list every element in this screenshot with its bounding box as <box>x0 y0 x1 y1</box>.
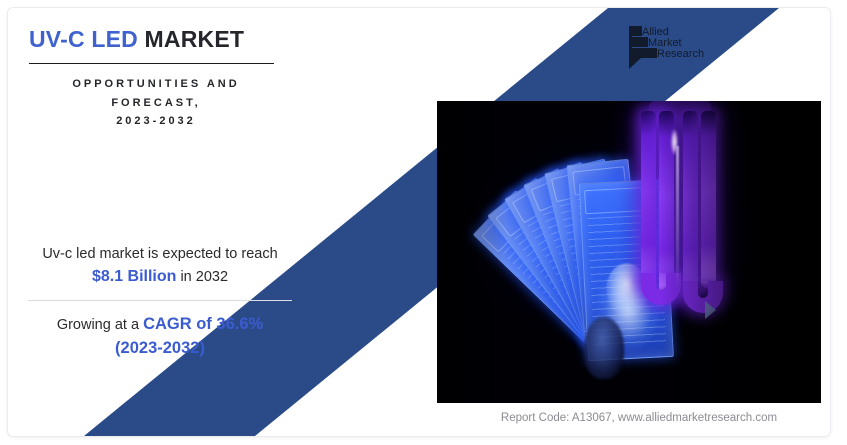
stat-cagr-prefix: Growing at a <box>57 317 143 333</box>
subtitle-line-1: OPPORTUNITIES AND <box>22 75 290 94</box>
stats-block: Uv-c led market is expected to reach $8.… <box>22 240 298 371</box>
page-subtitle: OPPORTUNITIES AND FORECAST, 2023-2032 <box>22 75 290 132</box>
infographic-card: UV-C LED MARKET OPPORTUNITIES AND FORECA… <box>8 8 830 436</box>
photo-edge-shade <box>437 101 821 403</box>
subtitle-line-2: FORECAST, <box>22 94 290 113</box>
allied-market-research-logo[interactable]: Allied Market Research <box>625 24 717 74</box>
title-divider <box>29 63 274 64</box>
page-title-rest: MARKET <box>138 26 244 52</box>
page-title: UV-C LED MARKET <box>29 26 290 54</box>
stat-cagr-highlight: CAGR of 36.6% <box>143 315 263 333</box>
stat-market-value: Uv-c led market is expected to reach $8.… <box>22 240 298 298</box>
logo-line-3: Research <box>657 48 704 60</box>
subtitle-line-3: 2023-2032 <box>22 112 290 131</box>
stat-market-value-suffix: in 2032 <box>176 269 228 285</box>
page-title-accent: UV-C LED <box>29 26 138 52</box>
stat-cagr: Growing at a CAGR of 36.6%(2023-2032) <box>22 309 298 371</box>
report-code-footer: Report Code: A13067, www.alliedmarketres… <box>449 412 829 424</box>
hero-photo <box>437 101 821 403</box>
stat-market-value-prefix: Uv-c led market is expected to reach <box>42 246 277 262</box>
stat-cagr-period: (2023-2032) <box>115 339 205 357</box>
stat-market-value-highlight: $8.1 Billion <box>92 268 176 285</box>
stats-divider <box>28 300 292 301</box>
header-block: UV-C LED MARKET OPPORTUNITIES AND FORECA… <box>22 18 290 131</box>
